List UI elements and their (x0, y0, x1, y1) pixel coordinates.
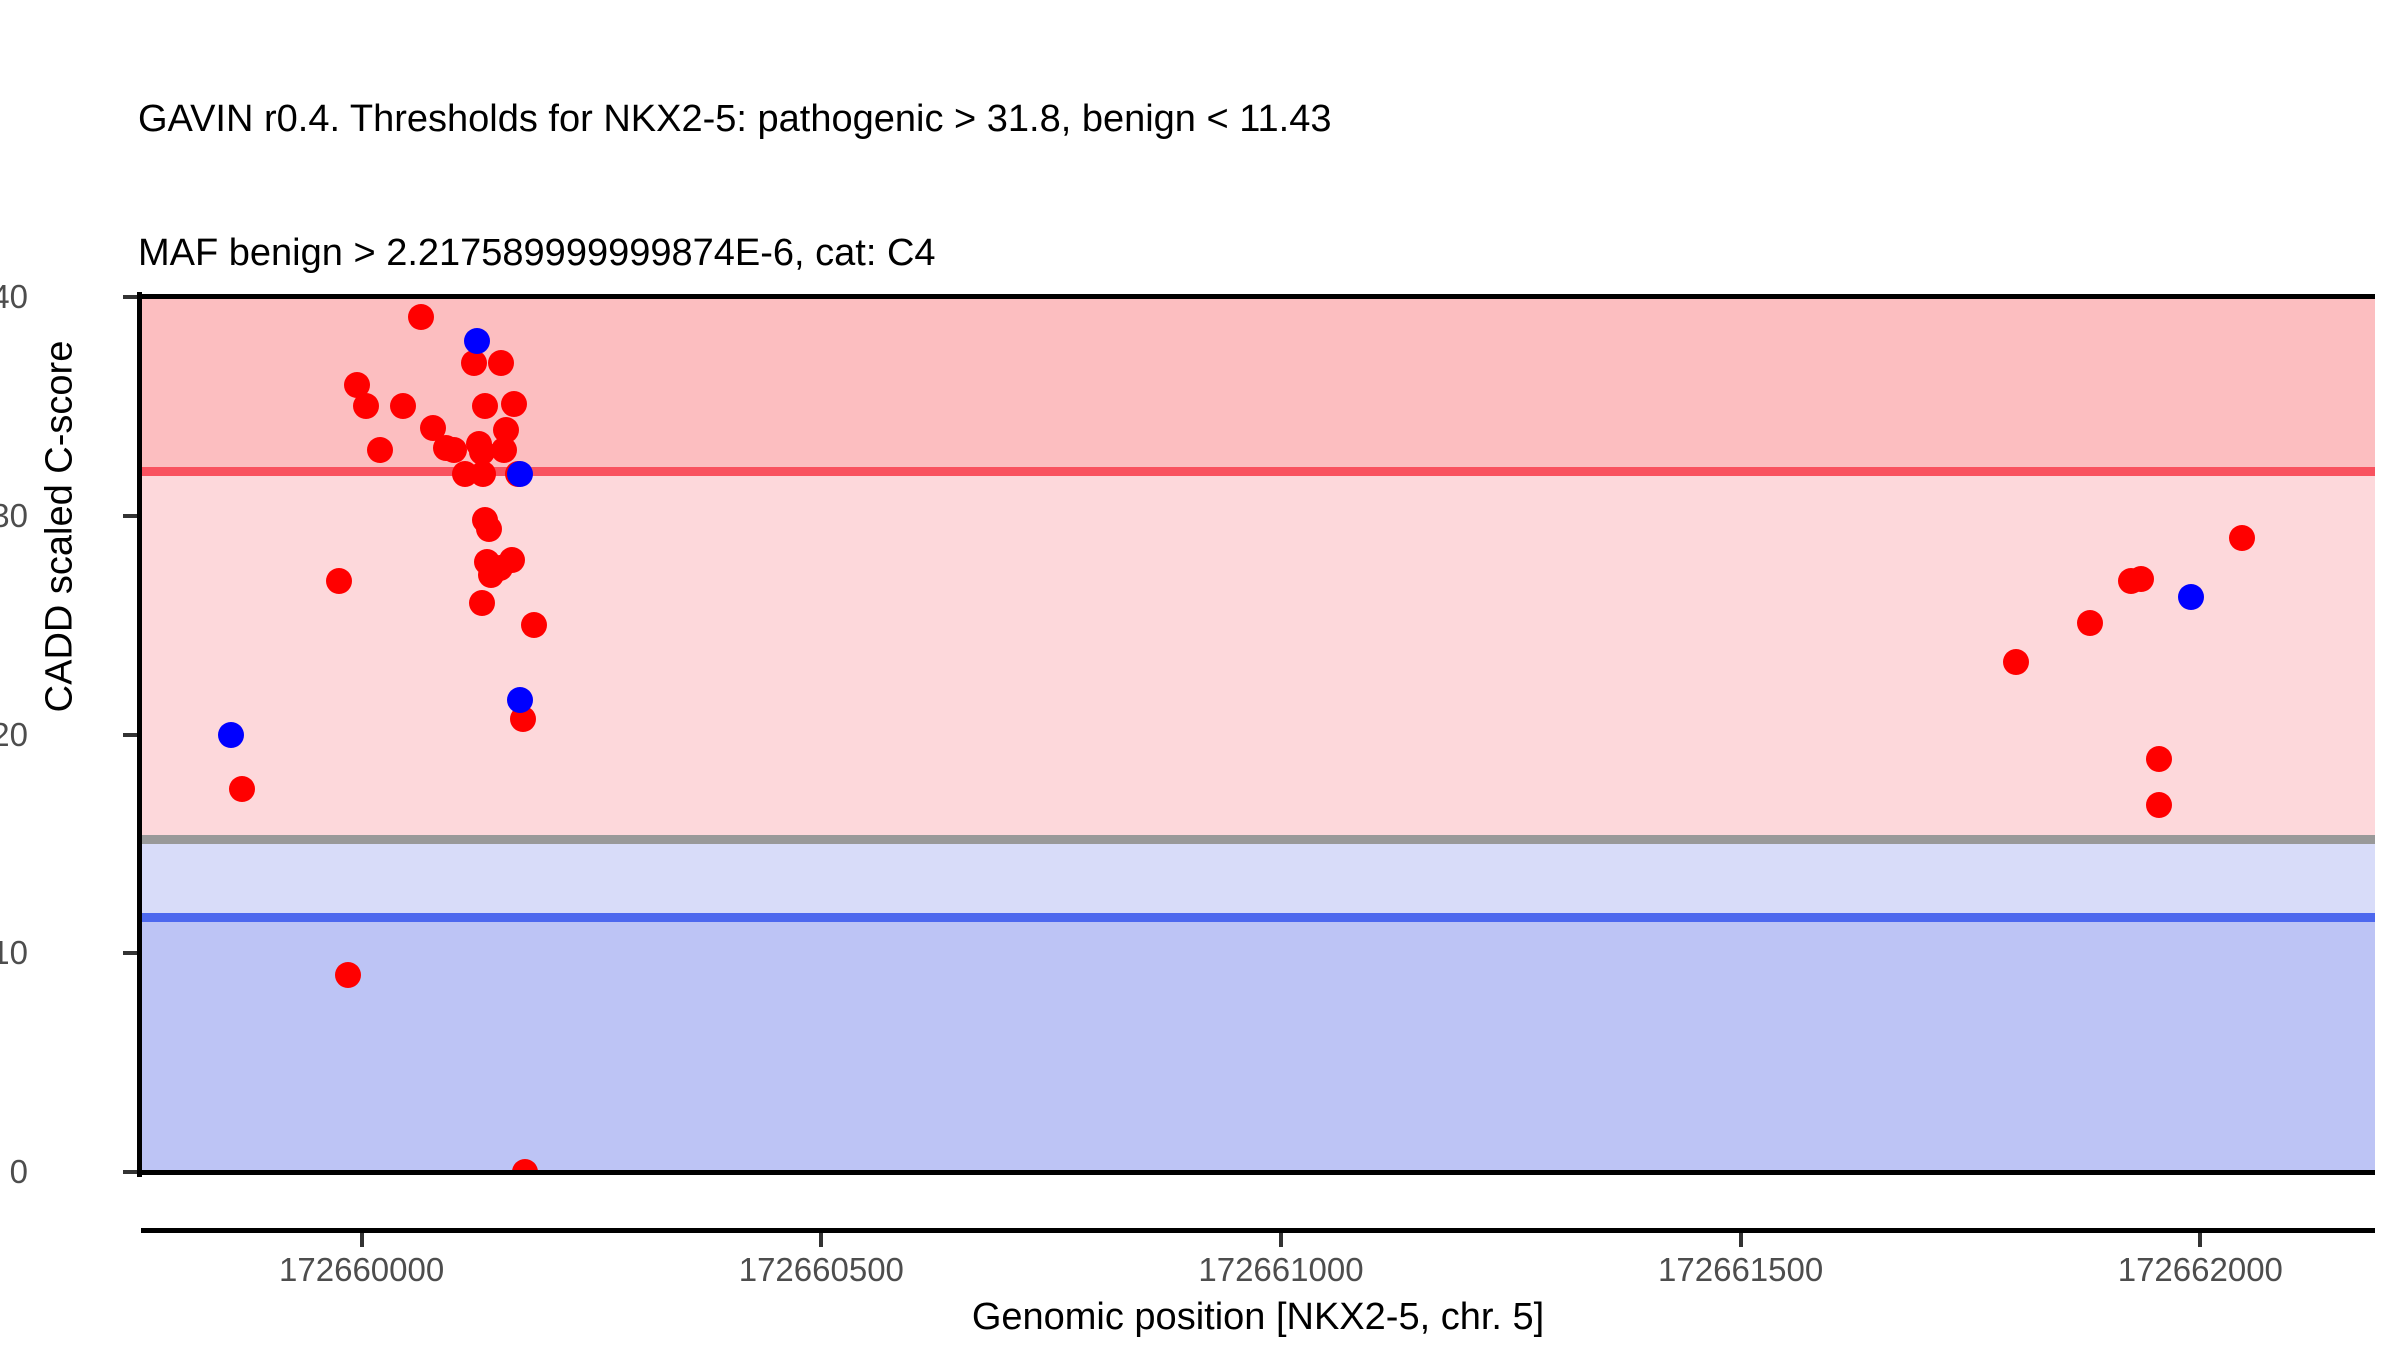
y-tick-mark (123, 1170, 137, 1174)
x-tick-mark (1279, 1233, 1283, 1247)
pathogenic-variant-point[interactable] (2077, 610, 2103, 636)
gnomad-variant-point[interactable] (464, 328, 490, 354)
gnomad-variant-point[interactable] (507, 461, 533, 487)
gnomad-variant-point[interactable] (218, 722, 244, 748)
pathogenic-variant-point[interactable] (2003, 649, 2029, 675)
pathogenic-variant-point[interactable] (353, 393, 379, 419)
upper-benign-band (141, 844, 2375, 922)
y-tick-mark (123, 733, 137, 737)
x-tick-mark (1739, 1233, 1743, 1247)
x-axis-title: Genomic position [NKX2-5, chr. 5] (141, 1296, 2375, 1339)
panel-bottom-rule (141, 1170, 2375, 1175)
y-tick-mark (123, 295, 137, 299)
x-tick-mark (2198, 1233, 2202, 1247)
title-line-2: MAF benign > 2.217589999999874E-6, cat: … (138, 231, 2378, 276)
pathogenic-variant-point[interactable] (2229, 525, 2255, 551)
pathogenic-variant-point[interactable] (441, 437, 467, 463)
pathogenic-variant-point[interactable] (491, 437, 517, 463)
plot-panel (141, 297, 2375, 1172)
pathogenic-variant-point[interactable] (335, 962, 361, 988)
x-axis-line (141, 1228, 2375, 1233)
pathogenic-variant-point[interactable] (2146, 792, 2172, 818)
x-tick-label: 172660500 (641, 1251, 1001, 1289)
pathogenic-variant-point[interactable] (461, 350, 487, 376)
pathogenic-variant-point[interactable] (229, 776, 255, 802)
pathogenic-variant-point[interactable] (367, 437, 393, 463)
y-tick-label: 0 (0, 1153, 28, 1191)
pathogenic-variant-point[interactable] (469, 590, 495, 616)
x-tick-label: 172661000 (1101, 1251, 1461, 1289)
pathogenic-variant-point[interactable] (501, 391, 527, 417)
y-tick-label: 30 (0, 497, 28, 535)
y-tick-mark (123, 951, 137, 955)
pathogenic-variant-point[interactable] (499, 547, 525, 573)
x-tick-label: 172660000 (182, 1251, 542, 1289)
y-axis-title: CADD scaled C-score (39, 127, 82, 927)
title-line-1: GAVIN r0.4. Thresholds for NKX2-5: patho… (138, 97, 2378, 142)
chart-root: GAVIN r0.4. Thresholds for NKX2-5: patho… (0, 0, 2400, 1350)
pathogenic-variant-point[interactable] (472, 393, 498, 419)
pathogenic-variant-point[interactable] (390, 393, 416, 419)
x-tick-mark (360, 1233, 364, 1247)
gnomad-variant-point[interactable] (2178, 584, 2204, 610)
y-tick-label: 20 (0, 716, 28, 754)
pathogenic-variant-point[interactable] (326, 568, 352, 594)
gnomad-variant-point[interactable] (507, 687, 533, 713)
pathogenic-variant-point[interactable] (488, 350, 514, 376)
panel-top-rule (141, 294, 2375, 299)
x-tick-label: 172662000 (2020, 1251, 2380, 1289)
pathogenic-variant-point[interactable] (521, 612, 547, 638)
pathogenic-variant-point[interactable] (408, 304, 434, 330)
pathogenic-variant-point[interactable] (470, 461, 496, 487)
pathogenic-variant-point[interactable] (2146, 746, 2172, 772)
lower-benign-band (141, 922, 2375, 1172)
pathogenic-variant-point[interactable] (2128, 566, 2154, 592)
y-axis-line (137, 292, 142, 1177)
y-tick-mark (123, 514, 137, 518)
y-tick-label: 10 (0, 934, 28, 972)
x-tick-mark (819, 1233, 823, 1247)
y-tick-label: 40 (0, 278, 28, 316)
x-tick-label: 172661500 (1561, 1251, 1921, 1289)
pathogenic-variant-point[interactable] (476, 516, 502, 542)
